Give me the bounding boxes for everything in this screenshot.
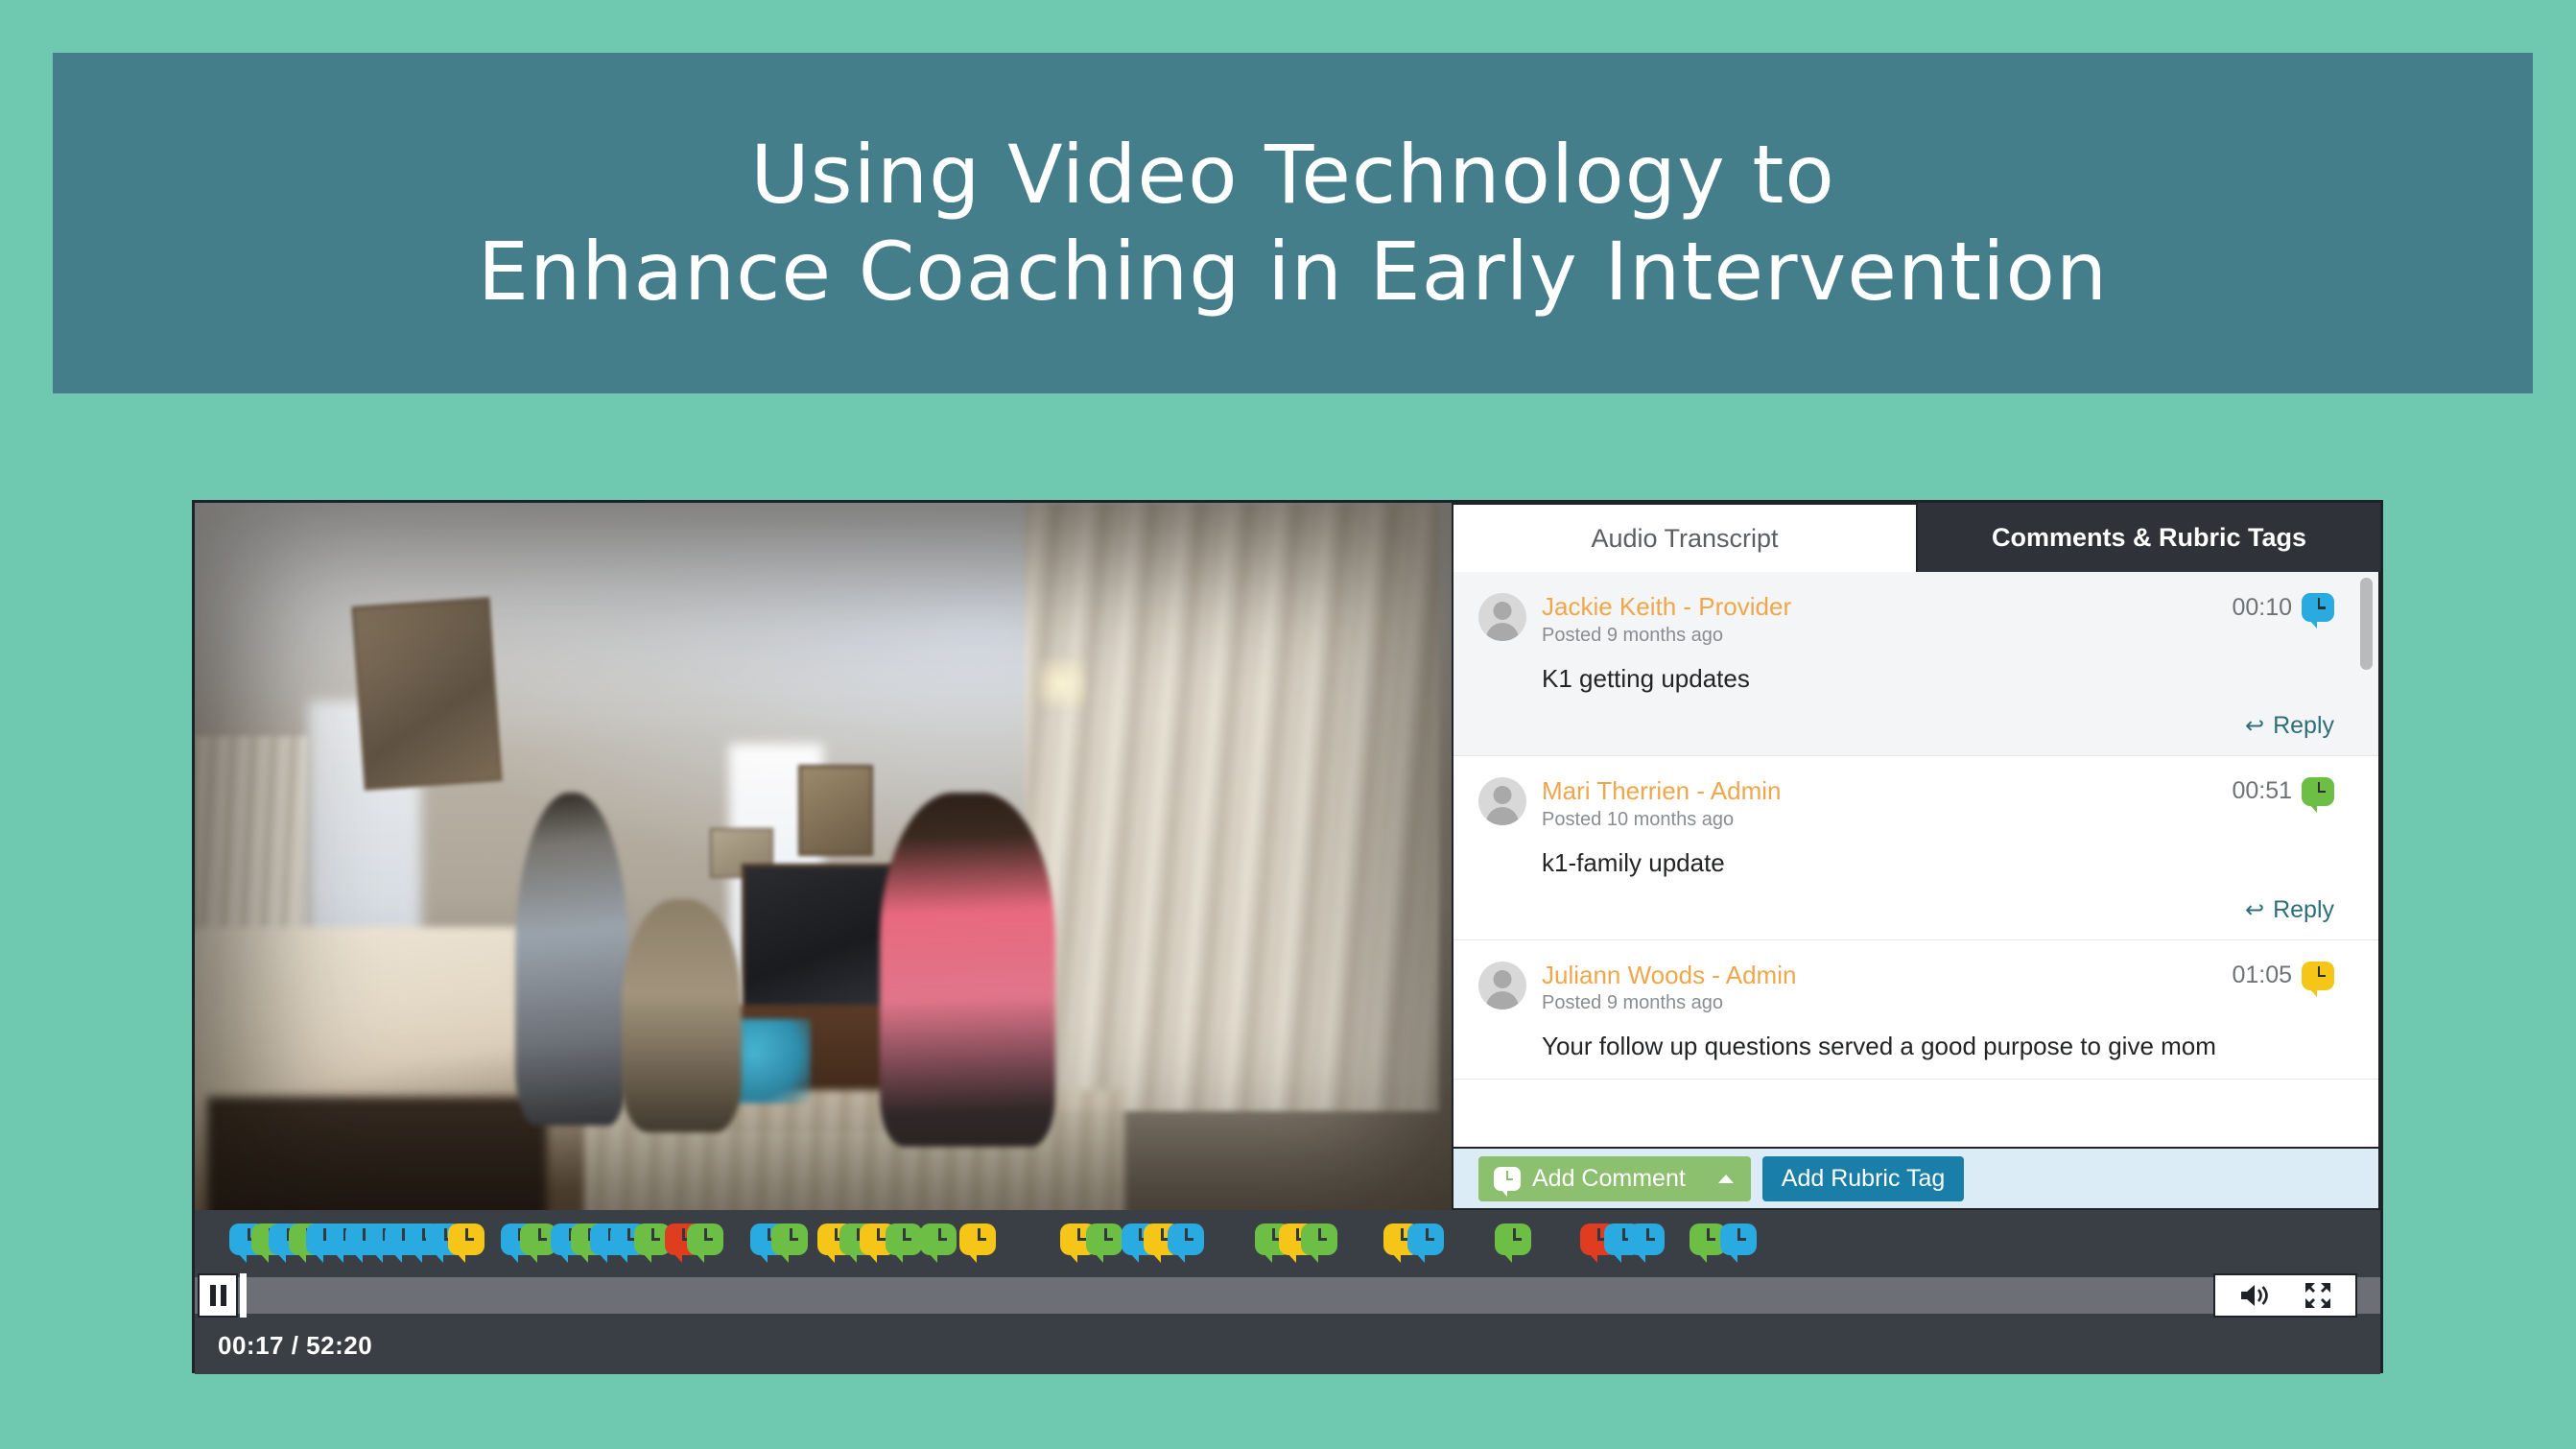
comment-timestamp: 00:10 (2232, 594, 2292, 622)
video-stage[interactable] (195, 503, 1452, 1210)
comment-timestamp: 00:51 (2232, 777, 2292, 805)
comment-author: Juliann Woods - Admin (1542, 962, 2216, 989)
timeline-marker[interactable] (1086, 1223, 1123, 1255)
timeline-marker[interactable] (959, 1223, 996, 1255)
add-rubric-label: Add Rubric Tag (1782, 1165, 1945, 1193)
scrollbar-thumb[interactable] (2360, 578, 2373, 670)
player-right-controls (2213, 1273, 2357, 1318)
reply-label: Reply (2273, 896, 2334, 924)
comment-author: Jackie Keith - Provider (1542, 593, 2216, 621)
tab-audio-transcript[interactable]: Audio Transcript (1452, 503, 1918, 572)
timeline-marker[interactable] (1495, 1223, 1531, 1255)
comment-meta: Juliann Woods - Admin Posted 9 months ag… (1542, 962, 2216, 1015)
timeline-marker[interactable] (771, 1223, 808, 1255)
comments-side-panel: Audio Transcript Comments & Rubric Tags … (1452, 503, 2380, 1210)
timeline-marker[interactable] (1168, 1223, 1204, 1255)
time-display-row: 00:17 / 52:20 (195, 1318, 2380, 1374)
reply-arrow-icon: ↩ (2245, 712, 2264, 740)
comment-posted-time: Posted 9 months ago (1542, 992, 2216, 1014)
comment-list-scrollbar[interactable] (2360, 578, 2373, 1149)
reply-label: Reply (2273, 712, 2334, 740)
video-scene-vignette (195, 503, 1452, 1210)
volume-icon[interactable] (2238, 1282, 2271, 1309)
comment-bubble-icon (2302, 777, 2334, 806)
comment-timestamp-group: 01:05 (2232, 962, 2334, 990)
add-comment-label: Add Comment (1532, 1165, 1686, 1193)
avatar (1478, 593, 1526, 641)
comment-bubble-icon (2302, 962, 2334, 990)
comment-list[interactable]: Jackie Keith - Provider Posted 9 months … (1452, 572, 2380, 1149)
pause-icon-bar-right (221, 1285, 226, 1306)
comment-bubble-icon (2302, 593, 2334, 622)
chevron-up-icon[interactable] (1718, 1175, 1734, 1183)
comment-header: Mari Therrien - Admin Posted 10 months a… (1478, 777, 2334, 831)
avatar (1478, 777, 1526, 825)
comment-header: Jackie Keith - Provider Posted 9 months … (1478, 593, 2334, 647)
comment-header: Juliann Woods - Admin Posted 9 months ag… (1478, 962, 2334, 1015)
avatar (1478, 962, 1526, 1010)
comment-timestamp-group: 00:10 (2232, 593, 2334, 622)
pause-icon-bar-left (210, 1285, 216, 1306)
comment-timestamp: 01:05 (2232, 962, 2292, 989)
player-top-row: Audio Transcript Comments & Rubric Tags … (195, 503, 2380, 1210)
comment-item[interactable]: Juliann Woods - Admin Posted 9 months ag… (1453, 940, 2378, 1080)
add-rubric-tag-button[interactable]: Add Rubric Tag (1762, 1156, 1964, 1201)
time-display: 00:17 / 52:20 (218, 1331, 372, 1361)
reply-button[interactable]: ↩ Reply (1478, 712, 2334, 740)
comment-timestamp-group: 00:51 (2232, 777, 2334, 806)
timeline-marker[interactable] (920, 1223, 957, 1255)
comment-body: K1 getting updates (1542, 662, 2334, 695)
comment-author: Mari Therrien - Admin (1542, 777, 2216, 805)
timeline-marker-track[interactable] (195, 1218, 2380, 1264)
comment-bubble-icon (1494, 1167, 1521, 1191)
fullscreen-icon[interactable] (2304, 1281, 2332, 1310)
comment-body: k1-family update (1542, 846, 2334, 879)
timeline-marker-zone[interactable] (195, 1210, 2380, 1273)
timeline-marker[interactable] (1301, 1223, 1337, 1255)
timeline-marker[interactable] (1720, 1223, 1757, 1255)
comment-actions-footer: Add Comment Add Rubric Tag (1452, 1149, 2380, 1210)
comment-posted-time: Posted 10 months ago (1542, 809, 2216, 831)
comment-item[interactable]: Jackie Keith - Provider Posted 9 months … (1453, 572, 2378, 756)
page-title-line-2: Enhance Coaching in Early Intervention (478, 226, 2108, 317)
comment-meta: Mari Therrien - Admin Posted 10 months a… (1542, 777, 2216, 831)
add-comment-button[interactable]: Add Comment (1478, 1156, 1751, 1201)
panel-tabs: Audio Transcript Comments & Rubric Tags (1452, 503, 2380, 572)
comment-meta: Jackie Keith - Provider Posted 9 months … (1542, 593, 2216, 647)
timeline-marker[interactable] (1628, 1223, 1665, 1255)
player-controls-row (195, 1273, 2380, 1318)
timeline-marker[interactable] (1407, 1223, 1444, 1255)
playhead-handle[interactable] (240, 1273, 247, 1318)
timeline-marker[interactable] (687, 1223, 723, 1255)
video-player: Audio Transcript Comments & Rubric Tags … (192, 500, 2383, 1373)
progress-bar[interactable] (195, 1277, 2380, 1314)
timeline-marker[interactable] (886, 1223, 922, 1255)
reply-button[interactable]: ↩ Reply (1478, 896, 2334, 924)
timeline-marker[interactable] (448, 1223, 484, 1255)
comment-item[interactable]: Mari Therrien - Admin Posted 10 months a… (1453, 756, 2378, 940)
page-title-line-1: Using Video Technology to (750, 130, 1834, 220)
tab-comments-rubric-tags[interactable]: Comments & Rubric Tags (1918, 503, 2380, 572)
slide-title-banner: Using Video Technology to Enhance Coachi… (53, 53, 2533, 393)
reply-arrow-icon: ↩ (2245, 896, 2264, 924)
pause-button[interactable] (198, 1273, 238, 1318)
comment-posted-time: Posted 9 months ago (1542, 625, 2216, 647)
comment-body: Your follow up questions served a good p… (1542, 1030, 2334, 1062)
